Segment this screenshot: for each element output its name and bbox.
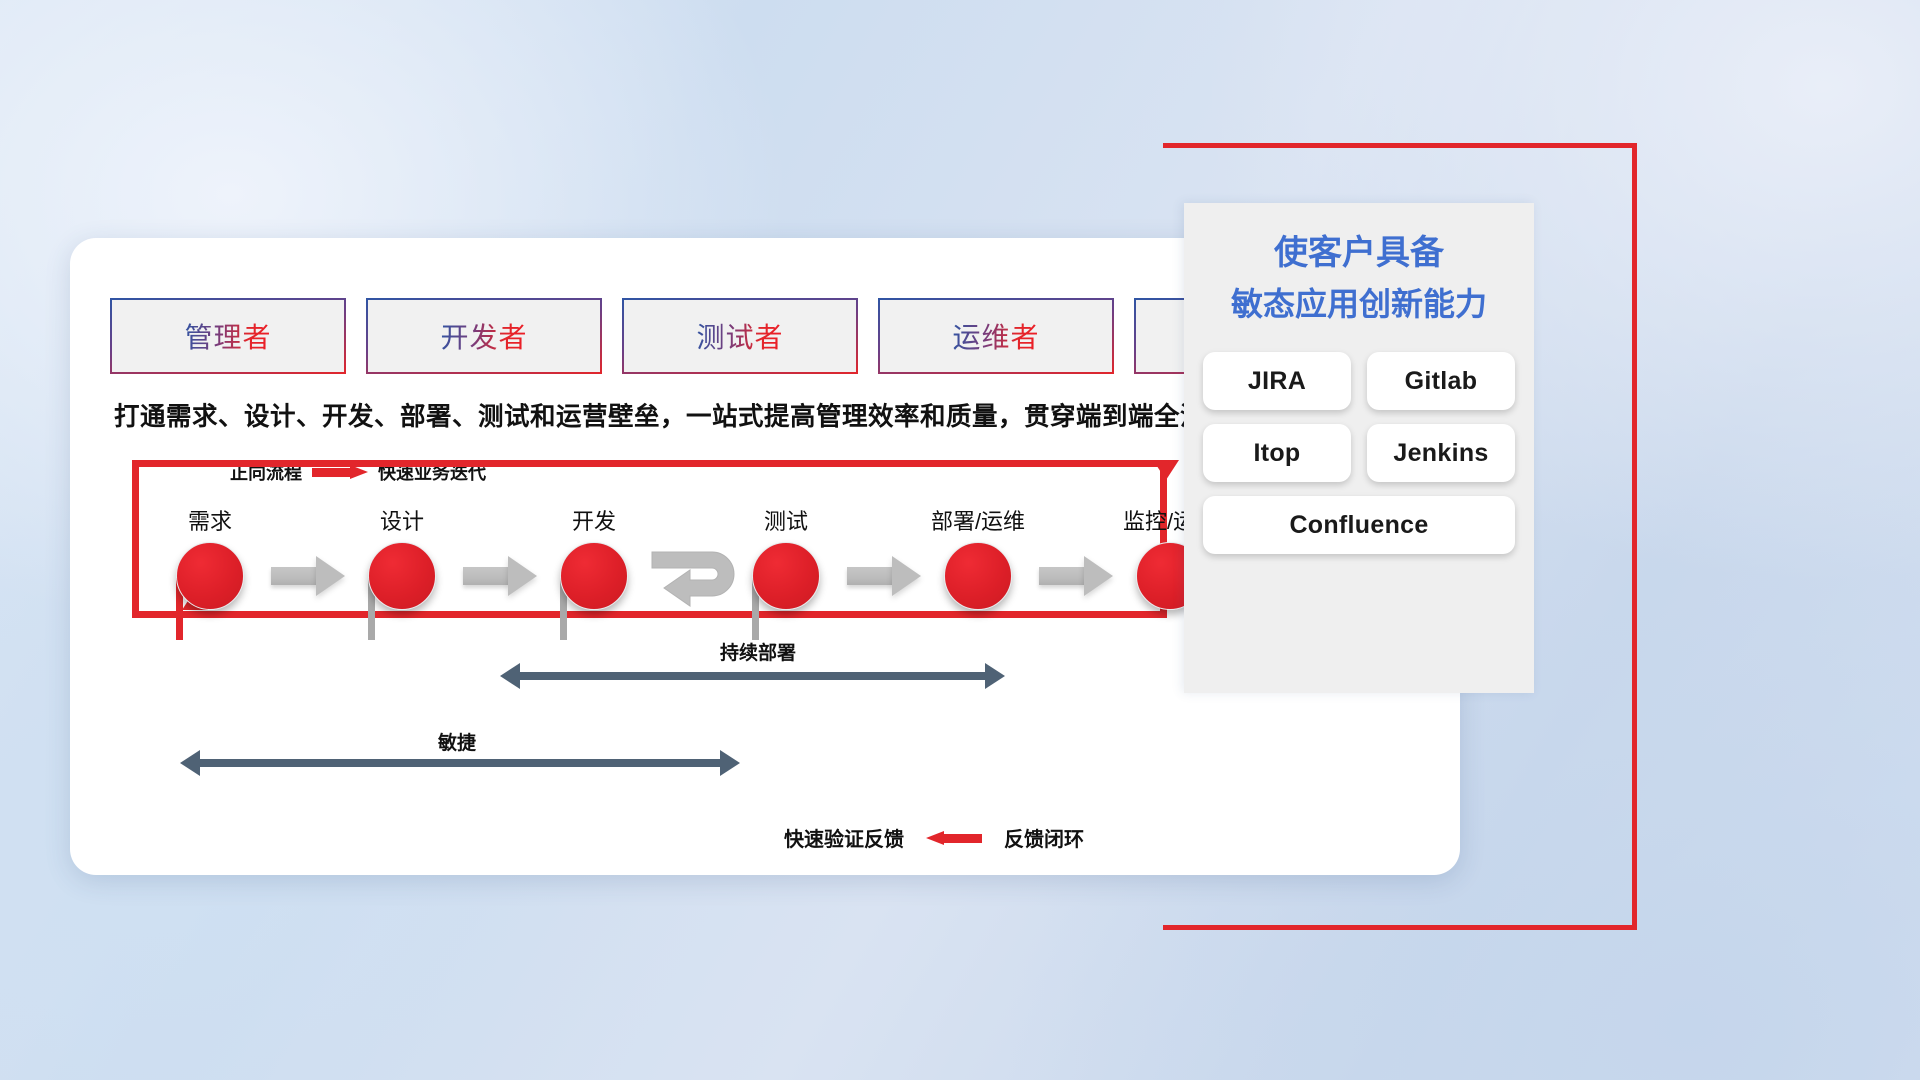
red-loop-arrow-down-icon [1153,460,1179,480]
tool-chip-confluence[interactable]: Confluence [1203,496,1515,554]
node-label-deploy-ops: 部署/运维 [931,504,1025,536]
arrow-shaft [271,567,317,585]
span-arrow-agile [180,750,740,776]
arrow-head-right-icon [892,556,921,596]
gray-arrow-2-icon [463,556,537,596]
role-label: 运维者 [952,316,1039,356]
role-box-developer[interactable]: 开发者 [368,300,600,372]
gray-arrow-4-icon [1039,556,1113,596]
arrow-shaft [463,567,509,585]
role-label: 开发者 [440,316,527,356]
arrow-shaft [196,759,724,767]
arrow-left-red-icon [926,831,982,845]
role-label: 管理者 [184,316,271,356]
panel-title-line-1: 使客户具备 [1184,231,1534,277]
arrow-head-right-icon [985,663,1005,689]
arrow-head-right-icon [508,556,537,596]
tool-chip-list: JIRA Gitlab Itop Jenkins Confluence [1184,326,1534,554]
node-circle-test[interactable] [752,542,820,610]
panel-title: 使客户具备 敏态应用创新能力 [1184,203,1534,326]
role-label: 测试者 [696,316,783,356]
tool-chip-gitlab[interactable]: Gitlab [1367,352,1515,410]
span-label-continuous-deployment: 持续部署 [720,638,796,665]
arrow-shaft [516,672,989,680]
gray-arrow-3-icon [847,556,921,596]
node-circle-design[interactable] [368,542,436,610]
legend-feedback-loop: 快速验证反馈 反馈闭环 [784,823,1084,852]
description-text: 打通需求、设计、开发、部署、测试和运营壁垒，一站式提高管理效率和质量，贯穿端到端… [114,396,1232,433]
span-arrow-continuous-deployment [500,663,1005,689]
role-box-row: 管理者 开发者 测试者 运维者 运营者 [112,300,1368,372]
role-box-manager[interactable]: 管理者 [112,300,344,372]
node-circle-deploy-ops[interactable] [944,542,1012,610]
node-circle-development[interactable] [560,542,628,610]
node-label-development: 开发 [572,504,616,536]
tool-chip-itop[interactable]: Itop [1203,424,1351,482]
arrow-head-right-icon [1084,556,1113,596]
node-label-design: 设计 [380,504,424,536]
node-label-requirement: 需求 [188,504,232,536]
loop-arrow-icon [650,544,760,616]
tool-chip-jira[interactable]: JIRA [1203,352,1351,410]
legend-feedback-left-label: 快速验证反馈 [784,823,904,852]
node-circle-requirement[interactable] [176,542,244,610]
arrow-shaft [1039,567,1085,585]
gray-arrow-1-icon [271,556,345,596]
arrow-head-right-icon [720,750,740,776]
arrow-shaft [847,567,893,585]
tools-panel: 使客户具备 敏态应用创新能力 JIRA Gitlab Itop Jenkins … [1184,203,1534,693]
arrow-head-right-icon [316,556,345,596]
panel-title-line-2: 敏态应用创新能力 [1184,283,1534,326]
node-label-test: 测试 [764,504,808,536]
role-box-tester[interactable]: 测试者 [624,300,856,372]
tool-chip-jenkins[interactable]: Jenkins [1367,424,1515,482]
legend-feedback-right-label: 反馈闭环 [1004,823,1084,852]
role-box-ops[interactable]: 运维者 [880,300,1112,372]
